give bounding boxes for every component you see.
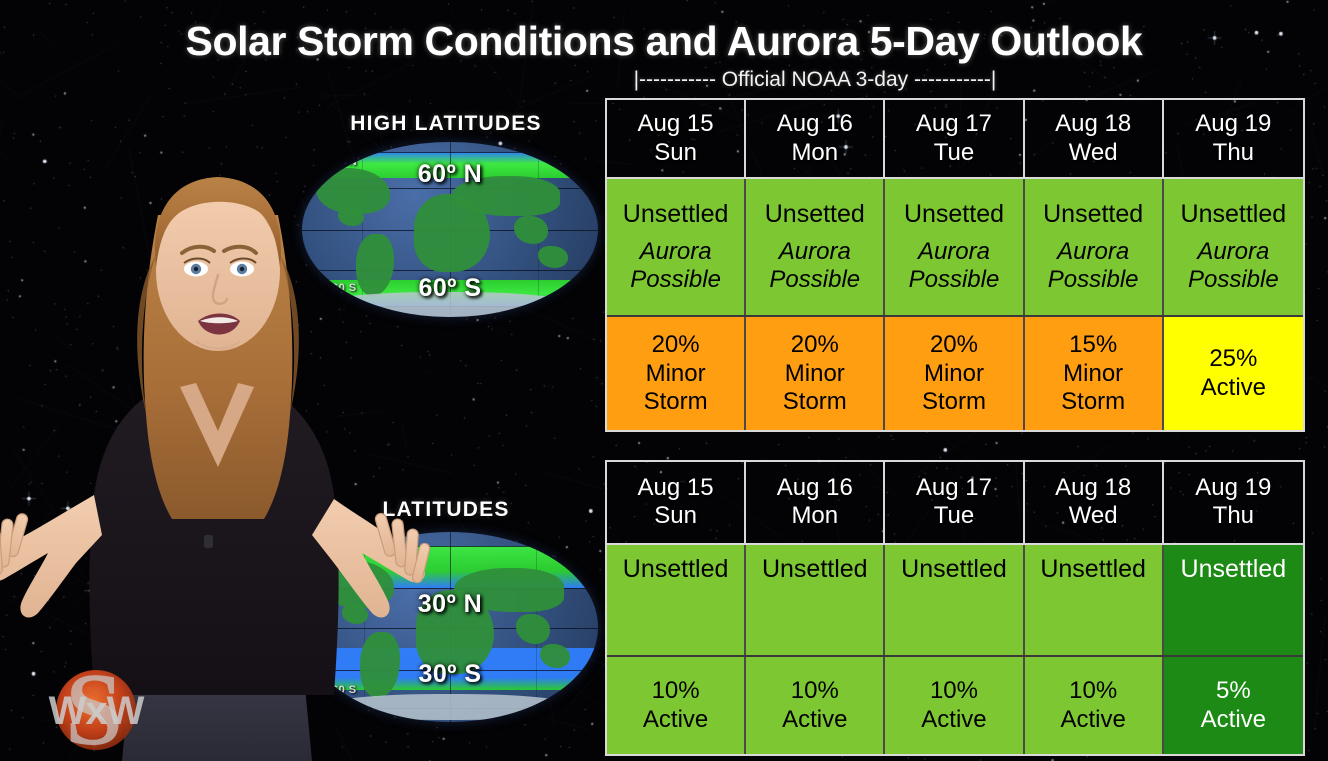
condition-note-line1: Aurora xyxy=(640,238,712,266)
day-header-3: Aug 17Tue xyxy=(885,100,1024,177)
day-date: Aug 15 xyxy=(638,474,714,502)
probability-percent: 20% xyxy=(791,331,839,359)
probability-label-line2: Storm xyxy=(644,388,708,416)
day-header-4: Aug 18Wed xyxy=(1025,100,1164,177)
probability-percent: 15% xyxy=(1069,331,1117,359)
probability-label-line1: Minor xyxy=(1063,360,1123,388)
day-weekday: Mon xyxy=(791,139,838,167)
condition-note-line1: Aurora xyxy=(779,238,851,266)
table-mid-condition-row: UnsettledUnsettledUnsettledUnsettledUnse… xyxy=(607,545,1303,655)
condition-cell-3: Unsettled xyxy=(885,545,1024,655)
condition-cell-3: UnsettedAuroraPossible xyxy=(885,179,1024,315)
probability-percent: 10% xyxy=(1069,677,1117,705)
probability-cell-3: 10%Active xyxy=(885,657,1024,754)
high-latitude-forecast-table: Aug 15SunAug 16MonAug 17TueAug 18WedAug … xyxy=(605,98,1305,432)
day-header-5: Aug 19Thu xyxy=(1164,462,1303,543)
probability-percent: 10% xyxy=(930,677,978,705)
day-weekday: Wed xyxy=(1069,139,1118,167)
probability-percent: 25% xyxy=(1209,345,1257,373)
probability-cell-3: 20%MinorStorm xyxy=(885,317,1024,430)
probability-label-line2: Storm xyxy=(783,388,847,416)
day-weekday: Mon xyxy=(791,502,838,530)
table-mid-probability-row: 10%Active10%Active10%Active10%Active5%Ac… xyxy=(607,655,1303,754)
condition-level: Unsetted xyxy=(1043,200,1143,230)
table-high-header-row: Aug 15SunAug 16MonAug 17TueAug 18WedAug … xyxy=(607,100,1303,179)
condition-cell-1: UnsettledAuroraPossible xyxy=(607,179,746,315)
condition-note-line2: Possible xyxy=(1188,266,1279,294)
probability-cell-1: 10%Active xyxy=(607,657,746,754)
condition-note-line2: Possible xyxy=(909,266,1000,294)
probability-cell-5: 25%Active xyxy=(1164,317,1303,430)
probability-percent: 20% xyxy=(652,331,700,359)
probability-cell-2: 20%MinorStorm xyxy=(746,317,885,430)
condition-cell-2: UnsettedAuroraPossible xyxy=(746,179,885,315)
day-weekday: Sun xyxy=(654,139,697,167)
condition-cell-4: Unsettled xyxy=(1025,545,1164,655)
table-mid-header-row: Aug 15SunAug 16MonAug 17TueAug 18WedAug … xyxy=(607,462,1303,545)
condition-note-line1: Aurora xyxy=(918,238,990,266)
noaa-3day-bracket: |----------- Official NOAA 3-day -------… xyxy=(606,68,1024,92)
day-date: Aug 18 xyxy=(1055,110,1131,138)
condition-note-line2: Possible xyxy=(769,266,860,294)
condition-cell-4: UnsettedAuroraPossible xyxy=(1025,179,1164,315)
condition-note-line2: Possible xyxy=(630,266,721,294)
condition-level: Unsetted xyxy=(765,200,865,230)
probability-percent: 10% xyxy=(652,677,700,705)
condition-level: Unsettled xyxy=(623,555,729,585)
day-header-2: Aug 16Mon xyxy=(746,462,885,543)
day-weekday: Thu xyxy=(1213,139,1254,167)
probability-label-line2: Storm xyxy=(1061,388,1125,416)
day-weekday: Wed xyxy=(1069,502,1118,530)
probability-label-line2: Storm xyxy=(922,388,986,416)
probability-label-line1: Minor xyxy=(924,360,984,388)
table-high-probability-row: 20%MinorStorm20%MinorStorm20%MinorStorm1… xyxy=(607,315,1303,430)
probability-cell-4: 15%MinorStorm xyxy=(1025,317,1164,430)
condition-level: Unsettled xyxy=(762,555,868,585)
day-header-5: Aug 19Thu xyxy=(1164,100,1303,177)
condition-level: Unsettled xyxy=(623,200,729,230)
condition-level: Unsetted xyxy=(904,200,1004,230)
page-title: Solar Storm Conditions and Aurora 5-Day … xyxy=(0,18,1328,65)
day-header-4: Aug 18Wed xyxy=(1025,462,1164,543)
probability-cell-1: 20%MinorStorm xyxy=(607,317,746,430)
day-date: Aug 19 xyxy=(1195,110,1271,138)
day-header-3: Aug 17Tue xyxy=(885,462,1024,543)
probability-label-line1: Minor xyxy=(785,360,845,388)
day-date: Aug 17 xyxy=(916,474,992,502)
condition-level: Unsettled xyxy=(1040,555,1146,585)
day-date: Aug 17 xyxy=(916,110,992,138)
probability-label-line1: Active xyxy=(782,706,847,734)
probability-label-line1: Active xyxy=(1201,706,1266,734)
probability-label-line1: Active xyxy=(1201,374,1266,402)
probability-cell-2: 10%Active xyxy=(746,657,885,754)
day-header-2: Aug 16Mon xyxy=(746,100,885,177)
condition-note-line1: Aurora xyxy=(1057,238,1129,266)
condition-level: Unsettled xyxy=(901,555,1007,585)
condition-level: Unsettled xyxy=(1181,555,1287,585)
watermark-text-wxw: WxW xyxy=(49,689,145,733)
condition-note-line1: Aurora xyxy=(1197,238,1269,266)
day-date: Aug 16 xyxy=(777,110,853,138)
day-weekday: Tue xyxy=(934,502,974,530)
probability-label-line1: Minor xyxy=(646,360,706,388)
probability-label-line1: Active xyxy=(1060,706,1125,734)
probability-label-line1: Active xyxy=(643,706,708,734)
probability-percent: 20% xyxy=(930,331,978,359)
day-date: Aug 15 xyxy=(638,110,714,138)
condition-cell-5: UnsettledAuroraPossible xyxy=(1164,179,1303,315)
mid-latitude-forecast-table: Aug 15SunAug 16MonAug 17TueAug 18WedAug … xyxy=(605,460,1305,756)
day-header-1: Aug 15Sun xyxy=(607,100,746,177)
probability-percent: 5% xyxy=(1216,677,1251,705)
probability-label-line1: Active xyxy=(921,706,986,734)
day-date: Aug 18 xyxy=(1055,474,1131,502)
condition-cell-2: Unsettled xyxy=(746,545,885,655)
probability-cell-5: 5%Active xyxy=(1164,657,1303,754)
wxw-watermark-logo: S WxW xyxy=(8,660,188,760)
table-high-condition-row: UnsettledAuroraPossibleUnsettedAuroraPos… xyxy=(607,179,1303,315)
day-weekday: Thu xyxy=(1213,502,1254,530)
probability-cell-4: 10%Active xyxy=(1025,657,1164,754)
condition-cell-5: Unsettled xyxy=(1164,545,1303,655)
condition-note-line2: Possible xyxy=(1048,266,1139,294)
day-header-1: Aug 15Sun xyxy=(607,462,746,543)
condition-cell-1: Unsettled xyxy=(607,545,746,655)
condition-level: Unsettled xyxy=(1181,200,1287,230)
day-weekday: Sun xyxy=(654,502,697,530)
probability-percent: 10% xyxy=(791,677,839,705)
day-date: Aug 16 xyxy=(777,474,853,502)
day-weekday: Tue xyxy=(934,139,974,167)
day-date: Aug 19 xyxy=(1195,474,1271,502)
